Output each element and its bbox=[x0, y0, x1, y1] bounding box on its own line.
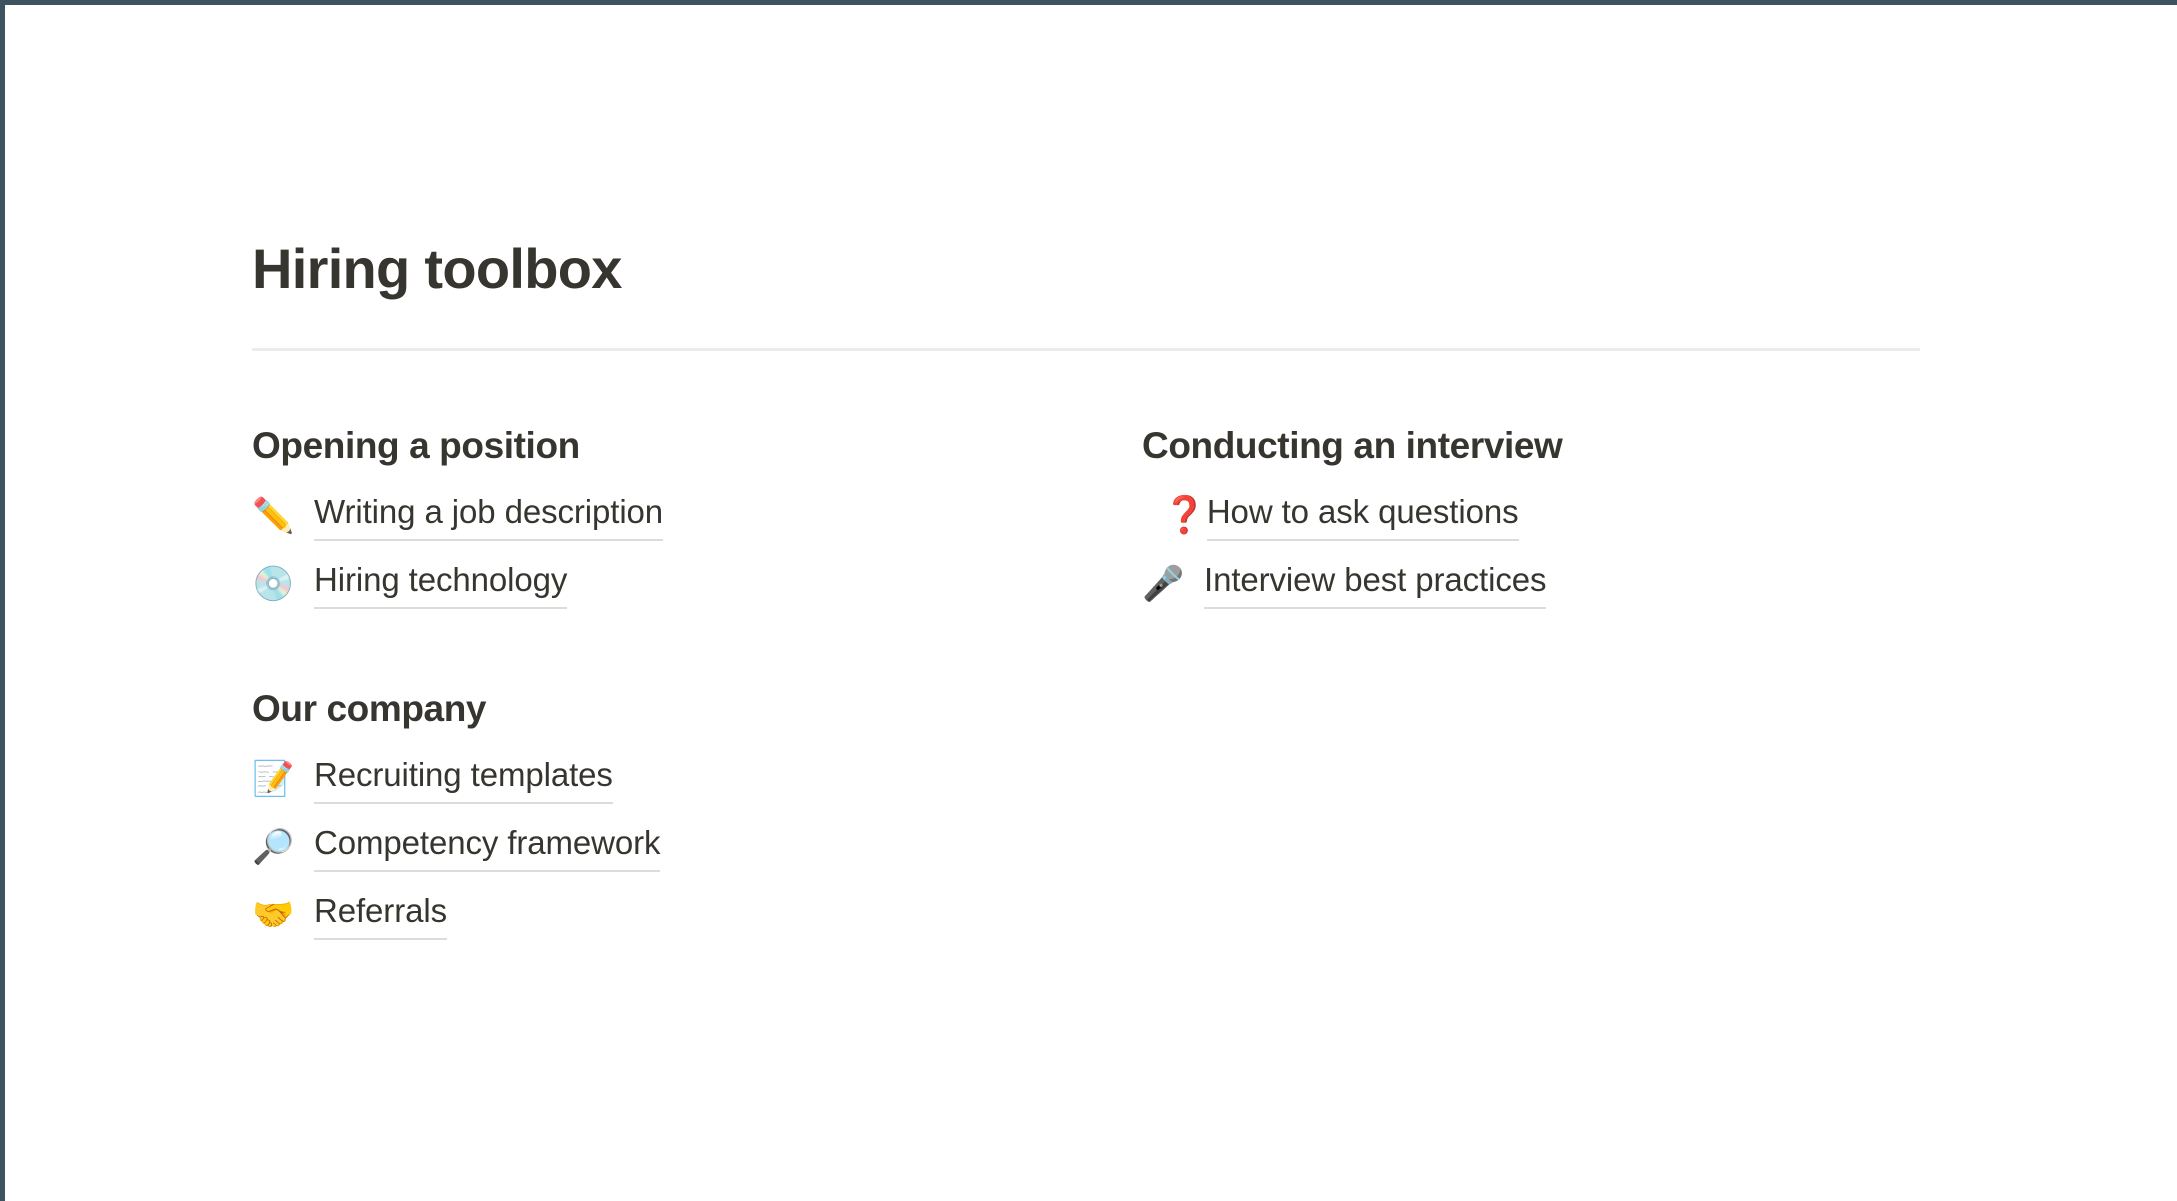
link-list: ❓ How to ask questions 🎤 Interview best … bbox=[1142, 482, 1902, 618]
link-list: 📝 Recruiting templates 🔎 Competency fram… bbox=[252, 745, 1142, 949]
link-hiring-technology[interactable]: Hiring technology bbox=[314, 559, 567, 609]
section-heading: Opening a position bbox=[252, 423, 1142, 468]
section-heading: Conducting an interview bbox=[1142, 423, 1902, 468]
column-right: Conducting an interview ❓ How to ask que… bbox=[1142, 423, 1902, 949]
list-item[interactable]: 💿 Hiring technology bbox=[252, 550, 1142, 618]
content-columns: Opening a position ✏️ Writing a job desc… bbox=[252, 423, 1932, 949]
page-title: Hiring toolbox bbox=[252, 237, 1932, 302]
link-writing-a-job-description[interactable]: Writing a job description bbox=[314, 491, 663, 541]
handshake-icon: 🤝 bbox=[252, 898, 314, 932]
list-item[interactable]: ✏️ Writing a job description bbox=[252, 482, 1142, 550]
pencil-icon: ✏️ bbox=[252, 499, 314, 533]
section-our-company: Our company 📝 Recruiting templates 🔎 Com… bbox=[252, 686, 1142, 949]
list-item[interactable]: 🔎 Competency framework bbox=[252, 813, 1142, 881]
column-left: Opening a position ✏️ Writing a job desc… bbox=[252, 423, 1142, 949]
memo-icon: 📝 bbox=[252, 762, 314, 796]
list-item[interactable]: 📝 Recruiting templates bbox=[252, 745, 1142, 813]
list-item[interactable]: 🎤 Interview best practices bbox=[1142, 550, 1902, 618]
section-conducting-an-interview: Conducting an interview ❓ How to ask que… bbox=[1142, 423, 1902, 618]
section-heading: Our company bbox=[252, 686, 1142, 731]
link-recruiting-templates[interactable]: Recruiting templates bbox=[314, 754, 613, 804]
document-body: Hiring toolbox Opening a position ✏️ Wri… bbox=[252, 5, 1932, 949]
list-item[interactable]: ❓ How to ask questions bbox=[1142, 482, 1902, 550]
section-opening-a-position: Opening a position ✏️ Writing a job desc… bbox=[252, 423, 1142, 618]
link-how-to-ask-questions[interactable]: How to ask questions bbox=[1207, 491, 1519, 541]
link-referrals[interactable]: Referrals bbox=[314, 890, 447, 940]
page-root: Hiring toolbox Opening a position ✏️ Wri… bbox=[0, 0, 2177, 1201]
optical-disc-icon: 💿 bbox=[252, 567, 314, 601]
link-competency-framework[interactable]: Competency framework bbox=[314, 822, 660, 872]
magnifying-glass-icon: 🔎 bbox=[252, 830, 314, 864]
link-interview-best-practices[interactable]: Interview best practices bbox=[1204, 559, 1546, 609]
list-item[interactable]: 🤝 Referrals bbox=[252, 881, 1142, 949]
microphone-icon: 🎤 bbox=[1142, 567, 1204, 601]
question-mark-icon: ❓ bbox=[1142, 498, 1207, 534]
title-divider bbox=[252, 348, 1920, 351]
link-list: ✏️ Writing a job description 💿 Hiring te… bbox=[252, 482, 1142, 618]
